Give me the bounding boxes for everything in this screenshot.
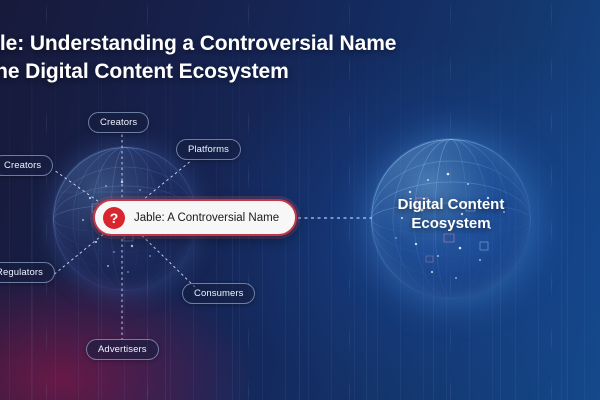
center-topic-label: Jable: A Controversial Name <box>134 212 279 224</box>
node-consumers[interactable]: Consumers <box>182 283 255 304</box>
node-creators-top[interactable]: Creators <box>88 112 149 133</box>
node-label: Regulators <box>0 267 43 278</box>
right-globe-label: Digital Content Ecosystem <box>370 196 532 234</box>
node-regulators[interactable]: Regulators <box>0 262 55 283</box>
question-mark-icon: ? <box>103 207 125 229</box>
node-platforms[interactable]: Platforms <box>176 139 241 160</box>
node-label: Advertisers <box>98 344 147 355</box>
node-label: Creators <box>4 160 41 171</box>
center-topic-card[interactable]: ? Jable: A Controversial Name <box>93 199 297 236</box>
node-advertisers[interactable]: Advertisers <box>86 339 159 360</box>
node-label: Creators <box>100 117 137 128</box>
node-creators-left[interactable]: Creators <box>0 155 53 176</box>
node-label: Consumers <box>194 288 243 299</box>
node-label: Platforms <box>188 144 229 155</box>
page-title: Jable: Understanding a Controversial Nam… <box>0 30 524 85</box>
slide-canvas: Jable: Understanding a Controversial Nam… <box>0 0 600 400</box>
